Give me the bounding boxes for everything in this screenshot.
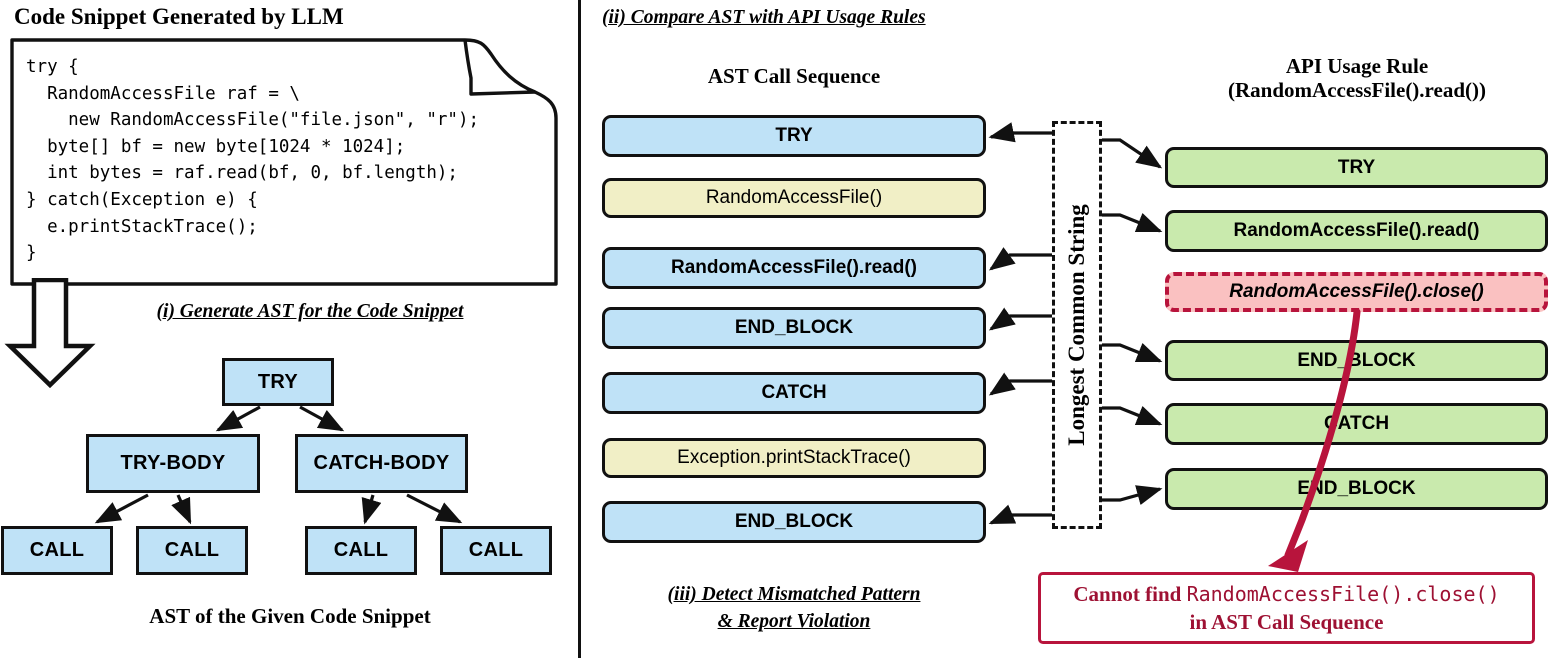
ast-seq-item-printstacktrace[interactable]: Exception.printStackTrace() [602, 438, 986, 478]
violation-prefix: Cannot find [1073, 582, 1186, 606]
ast-seq-item-end-block-1[interactable]: END_BLOCK [602, 307, 986, 349]
api-usage-rule-title-line2: (RandomAccessFile().read()) [1165, 78, 1549, 102]
ast-node-try[interactable]: TRY [222, 358, 334, 406]
rule-item-close-missing[interactable]: RandomAccessFile().close() [1165, 272, 1548, 312]
ast-seq-item-read[interactable]: RandomAccessFile().read() [602, 247, 986, 289]
rule-item-end-block-2[interactable]: END_BLOCK [1165, 468, 1548, 510]
step-iii-title-line2: & Report Violation [602, 610, 986, 634]
rule-item-try[interactable]: TRY [1165, 147, 1548, 188]
left-panel-title: Code Snippet Generated by LLM [14, 4, 444, 30]
violation-api: RandomAccessFile().close() [1187, 582, 1500, 606]
code-snippet-text: try { RandomAccessFile raf = \ new Rando… [26, 54, 546, 267]
ast-seq-item-end-block-2[interactable]: END_BLOCK [602, 501, 986, 543]
ast-node-call[interactable]: CALL [136, 526, 248, 575]
rule-item-catch[interactable]: CATCH [1165, 403, 1548, 445]
rule-item-end-block-1[interactable]: END_BLOCK [1165, 340, 1548, 381]
ast-node-call[interactable]: CALL [440, 526, 552, 575]
step-i-title: (i) Generate AST for the Code Snippet [80, 300, 540, 324]
violation-line-1: Cannot find RandomAccessFile().close() [1073, 580, 1499, 608]
ast-node-call[interactable]: CALL [305, 526, 417, 575]
ast-node-call[interactable]: CALL [1, 526, 113, 575]
ast-node-catch-body[interactable]: CATCH-BODY [295, 434, 468, 493]
ast-seq-item-randomaccessfile[interactable]: RandomAccessFile() [602, 178, 986, 218]
api-usage-rule-title-line1: API Usage Rule [1165, 54, 1549, 78]
ast-seq-item-catch[interactable]: CATCH [602, 372, 986, 414]
ast-node-try-body[interactable]: TRY-BODY [86, 434, 260, 493]
step-ii-title: (ii) Compare AST with API Usage Rules [602, 6, 1022, 30]
code-snippet-document: try { RandomAccessFile raf = \ new Rando… [10, 38, 558, 286]
ast-seq-item-try[interactable]: TRY [602, 115, 986, 157]
violation-line-2: in AST Call Sequence [1073, 608, 1499, 636]
panel-divider [578, 0, 581, 658]
ast-caption: AST of the Given Code Snippet [40, 604, 540, 628]
rule-item-read[interactable]: RandomAccessFile().read() [1165, 210, 1548, 252]
ast-call-sequence-title: AST Call Sequence [602, 64, 986, 88]
violation-report-box: Cannot find RandomAccessFile().close() i… [1038, 572, 1535, 644]
longest-common-string-label: Longest Common String [1052, 121, 1102, 529]
step-iii-title-line1: (iii) Detect Mismatched Pattern [602, 583, 986, 607]
